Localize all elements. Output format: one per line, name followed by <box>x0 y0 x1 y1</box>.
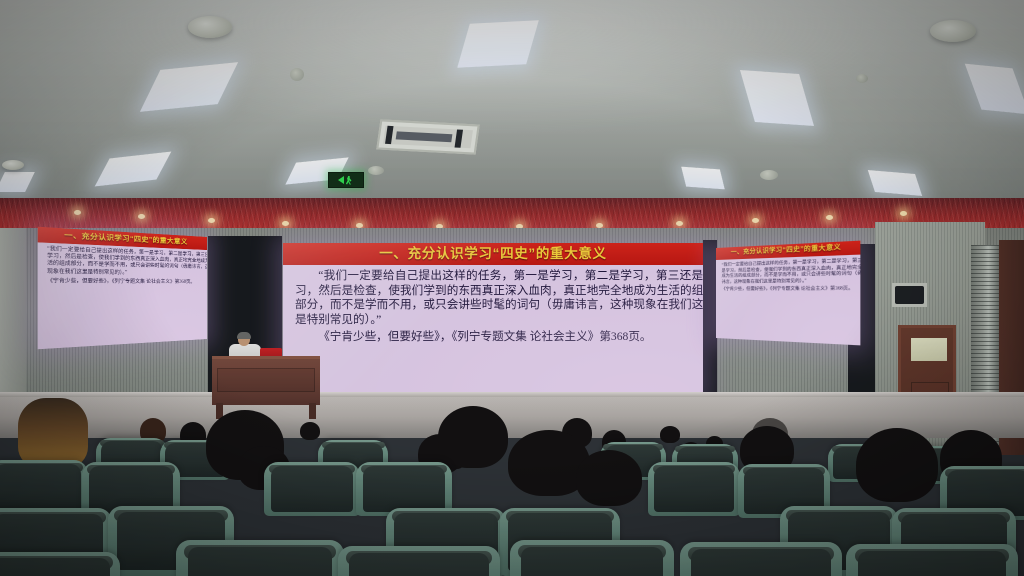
audience-head <box>18 398 88 468</box>
auditorium-seat[interactable] <box>648 462 740 516</box>
auditorium-seat[interactable] <box>0 552 120 576</box>
slide-body-paragraph: “我们一定要给自己提出这样的任务，第一是学习，第二是学习，第三还是学习，然后是检… <box>295 269 703 327</box>
ceiling-panel-light <box>681 167 725 190</box>
audience-head <box>576 450 642 506</box>
slide-title: 一、充分认识学习“四史”的重大意义 <box>283 243 703 265</box>
audience-head <box>438 406 508 468</box>
recessed-downlight <box>208 218 215 223</box>
dome-ceiling-light <box>2 160 24 170</box>
stage-front-edge <box>0 392 1024 397</box>
auditorium-seat[interactable] <box>680 542 842 576</box>
audience-head <box>300 422 320 440</box>
dome-ceiling-light <box>188 16 232 38</box>
recessed-downlight <box>282 221 289 226</box>
auditorium-seat[interactable] <box>338 546 500 576</box>
stage-recess-right <box>703 240 717 392</box>
recessed-downlight <box>74 210 81 215</box>
smoke-detector <box>760 170 778 180</box>
audience-head <box>660 426 680 443</box>
emergency-exit-sign <box>328 172 364 188</box>
slide-body-paragraph: “我们一定要给自己提出这样的任务，第一是学习，第二是学习，第三还是学习，然后是检… <box>722 257 861 285</box>
dome-ceiling-light <box>930 20 976 42</box>
auditorium-seat[interactable] <box>264 462 360 516</box>
left-side-display[interactable]: 一、充分认识学习“四史”的重大意义 “我们一定要给自己提出这样的任务，第一是学习… <box>38 227 207 350</box>
podium-front-panel <box>217 368 315 392</box>
auditorium-seat[interactable] <box>510 540 674 576</box>
smoke-detector <box>290 68 304 81</box>
exit-arrow-icon <box>338 176 344 184</box>
smoke-detector <box>368 166 384 175</box>
speaker-podium <box>212 356 320 405</box>
slide-body: “我们一定要给自己提出这样的任务，第一是学习，第二是学习，第三还是学习，然后是检… <box>716 256 860 292</box>
wall-mounted-speaker <box>892 283 927 307</box>
door-glass-panel <box>911 338 947 361</box>
main-projection-screen[interactable]: 一、充分认识学习“四史”的重大意义 “我们一定要给自己提出这样的任务，第一是学习… <box>283 243 703 395</box>
slide-body: “我们一定要给自己提出这样的任务，第一是学习，第二是学习，第三还是学习，然后是检… <box>283 269 703 345</box>
ceiling-air-conditioner-vent <box>376 119 479 154</box>
ceiling-panel-light <box>457 20 539 68</box>
running-person-icon <box>346 176 353 185</box>
recessed-downlight <box>900 211 907 216</box>
recessed-downlight <box>752 218 759 223</box>
recessed-downlight <box>138 214 145 219</box>
auditorium-seat[interactable] <box>846 544 1018 576</box>
right-side-display[interactable]: 一、充分认识学习“四史”的重大意义 “我们一定要给自己提出这样的任务，第一是学习… <box>716 241 860 346</box>
slide-body-paragraph: “我们一定要给自己提出这样的任务，第一是学习，第二是学习，第三还是学习，然后是检… <box>47 245 207 277</box>
auditorium-seat[interactable] <box>176 540 344 576</box>
presenter-hair <box>237 332 251 339</box>
slide-body: “我们一定要给自己提出这样的任务，第一是学习，第二是学习，第三还是学习，然后是检… <box>38 245 207 285</box>
slide-citation: 《宁肯少些，但要好些》，《列宁专题文集 论社会主义》第368页。 <box>295 330 703 345</box>
audience-seating <box>0 400 1024 576</box>
recessed-downlight <box>676 221 683 226</box>
audience-head <box>856 428 938 502</box>
smoke-detector <box>856 74 868 83</box>
recessed-downlight <box>826 215 833 220</box>
auditorium-scene: 一、充分认识学习“四史”的重大意义 “我们一定要给自己提出这样的任务，第一是学习… <box>0 0 1024 576</box>
ceiling-panel-light <box>868 170 922 196</box>
slide-citation: 《宁肯少些，但要好些》，《列宁专题文集 论社会主义》第368页。 <box>722 285 861 292</box>
slide-citation: 《宁肯少些，但要好些》，《列宁专题文集 论社会主义》第368页。 <box>47 277 207 285</box>
